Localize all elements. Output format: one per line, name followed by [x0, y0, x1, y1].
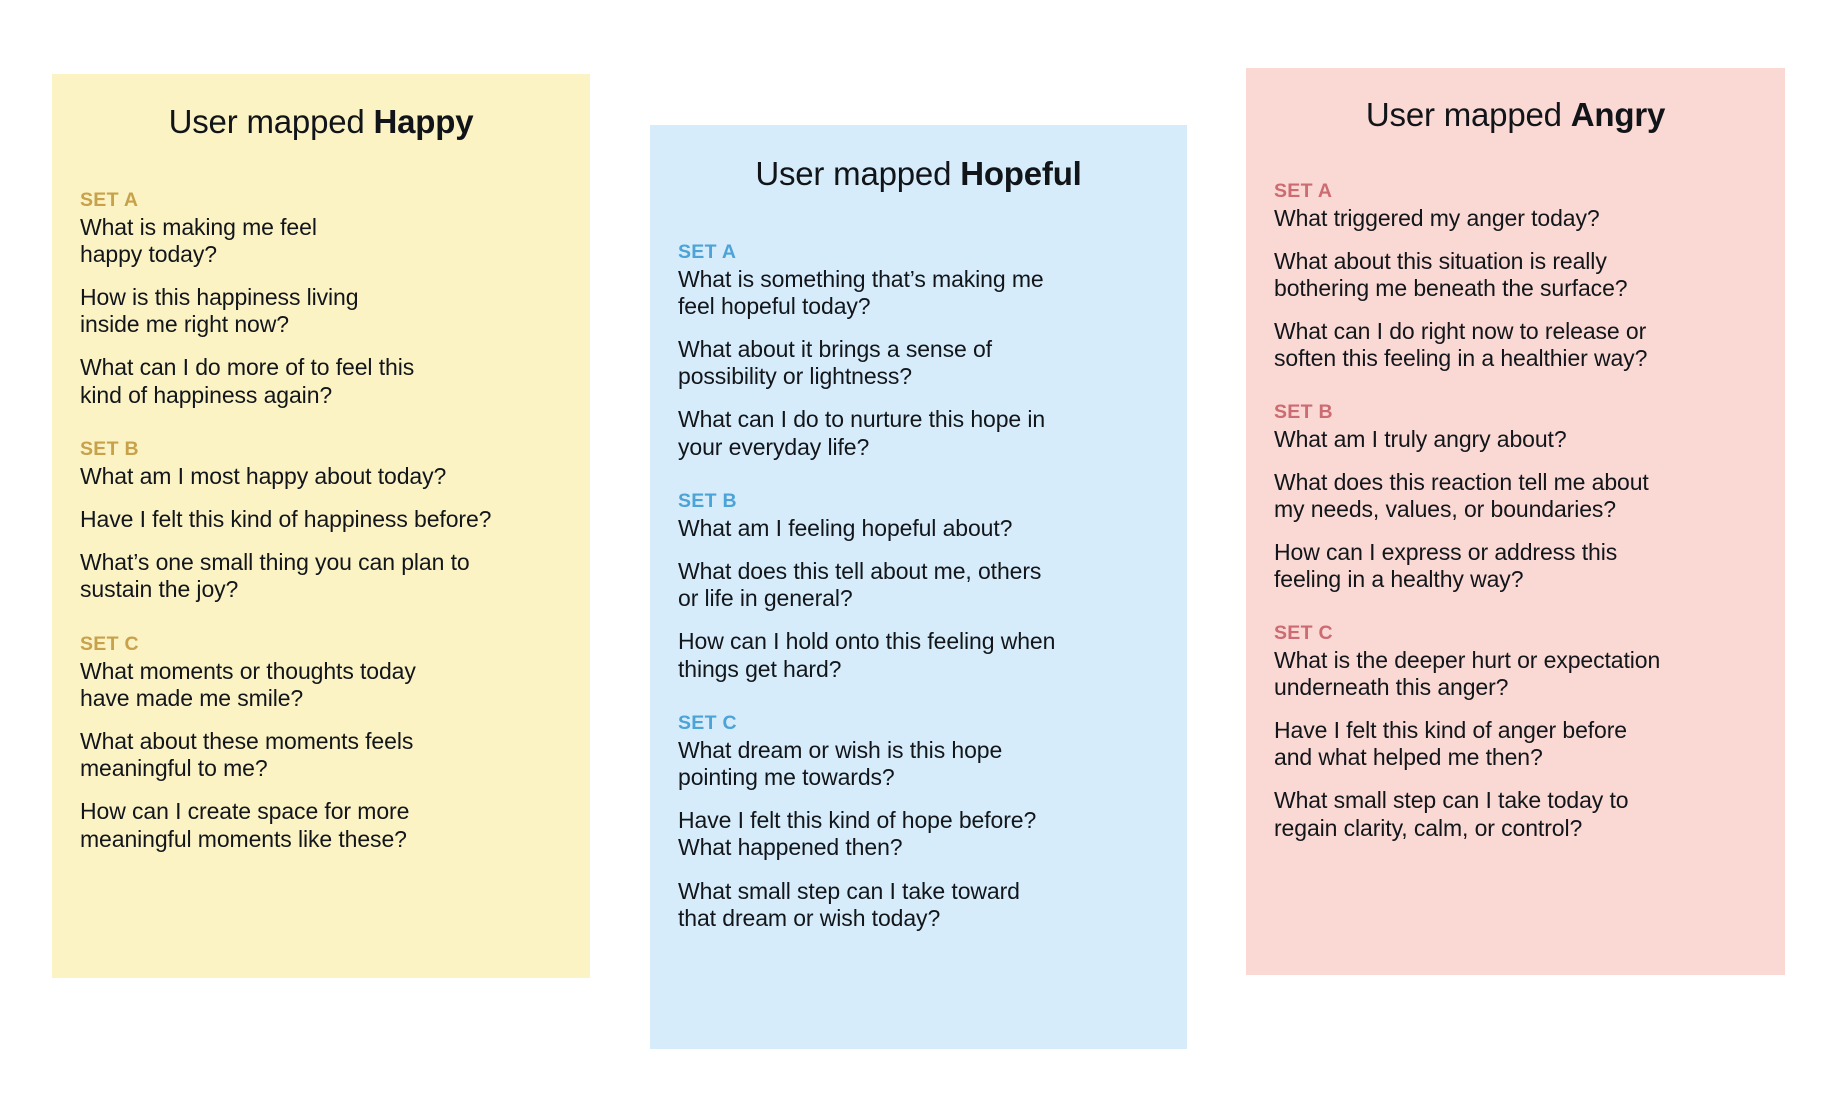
question-item: What about this situation is really both… — [1274, 248, 1763, 302]
set-list-hopeful: SET A What is something that’s making me… — [650, 240, 1187, 932]
card-title-emotion: Hopeful — [960, 155, 1081, 192]
question-item: How can I express or address this feelin… — [1274, 539, 1763, 593]
set-block: SET C What moments or thoughts today hav… — [80, 632, 568, 853]
set-block: SET C What is the deeper hurt or expecta… — [1274, 621, 1763, 842]
question-item: What can I do to nurture this hope in yo… — [678, 406, 1165, 460]
question-item: What about it brings a sense of possibil… — [678, 336, 1165, 390]
question-item: How is this happiness living inside me r… — [80, 284, 568, 338]
set-label: SET A — [1274, 179, 1763, 203]
question-item: What is something that’s making me feel … — [678, 266, 1165, 320]
set-label: SET C — [80, 632, 568, 656]
set-block: SET B What am I truly angry about? What … — [1274, 400, 1763, 594]
question-item: Have I felt this kind of happiness befor… — [80, 506, 568, 533]
question-item: What am I feeling hopeful about? — [678, 515, 1165, 542]
question-item: What’s one small thing you can plan to s… — [80, 549, 568, 603]
set-block: SET B What am I feeling hopeful about? W… — [678, 489, 1165, 683]
set-block: SET A What is making me feel happy today… — [80, 188, 568, 409]
question-item: What moments or thoughts today have made… — [80, 658, 568, 712]
question-item: What am I truly angry about? — [1274, 426, 1763, 453]
set-label: SET B — [678, 489, 1165, 513]
set-label: SET B — [1274, 400, 1763, 424]
card-title-emotion: Angry — [1571, 96, 1665, 133]
question-item: What triggered my anger today? — [1274, 205, 1763, 232]
question-item: What does this tell about me, others or … — [678, 558, 1165, 612]
question-item: What does this reaction tell me about my… — [1274, 469, 1763, 523]
question-item: How can I create space for more meaningf… — [80, 798, 568, 852]
question-item: What small step can I take today to rega… — [1274, 787, 1763, 841]
set-label: SET A — [80, 188, 568, 212]
question-item: What dream or wish is this hope pointing… — [678, 737, 1165, 791]
set-list-angry: SET A What triggered my anger today? Wha… — [1246, 179, 1785, 842]
set-label: SET A — [678, 240, 1165, 264]
card-title-prefix: User mapped — [1366, 96, 1571, 133]
question-item: Have I felt this kind of anger before an… — [1274, 717, 1763, 771]
emotion-card-happy: User mapped Happy SET A What is making m… — [52, 74, 590, 978]
question-item: How can I hold onto this feeling when th… — [678, 628, 1165, 682]
question-item: What is making me feel happy today? — [80, 214, 568, 268]
question-item: Have I felt this kind of hope before? Wh… — [678, 807, 1165, 861]
set-block: SET C What dream or wish is this hope po… — [678, 711, 1165, 932]
set-block: SET A What is something that’s making me… — [678, 240, 1165, 461]
prompt-cards-canvas: User mapped Happy SET A What is making m… — [0, 0, 1830, 1100]
set-block: SET B What am I most happy about today? … — [80, 437, 568, 604]
card-title-hopeful: User mapped Hopeful — [650, 154, 1187, 194]
set-list-happy: SET A What is making me feel happy today… — [52, 188, 590, 853]
emotion-card-angry: User mapped Angry SET A What triggered m… — [1246, 68, 1785, 975]
card-title-prefix: User mapped — [169, 103, 374, 140]
set-block: SET A What triggered my anger today? Wha… — [1274, 179, 1763, 373]
question-item: What is the deeper hurt or expectation u… — [1274, 647, 1763, 701]
set-label: SET B — [80, 437, 568, 461]
set-label: SET C — [1274, 621, 1763, 645]
card-title-happy: User mapped Happy — [52, 102, 590, 142]
set-label: SET C — [678, 711, 1165, 735]
question-item: What about these moments feels meaningfu… — [80, 728, 568, 782]
question-item: What can I do right now to release or so… — [1274, 318, 1763, 372]
card-title-angry: User mapped Angry — [1246, 95, 1785, 135]
question-item: What small step can I take toward that d… — [678, 878, 1165, 932]
emotion-card-hopeful: User mapped Hopeful SET A What is someth… — [650, 125, 1187, 1049]
card-title-prefix: User mapped — [755, 155, 960, 192]
question-item: What can I do more of to feel this kind … — [80, 354, 568, 408]
question-item: What am I most happy about today? — [80, 463, 568, 490]
card-title-emotion: Happy — [374, 103, 474, 140]
